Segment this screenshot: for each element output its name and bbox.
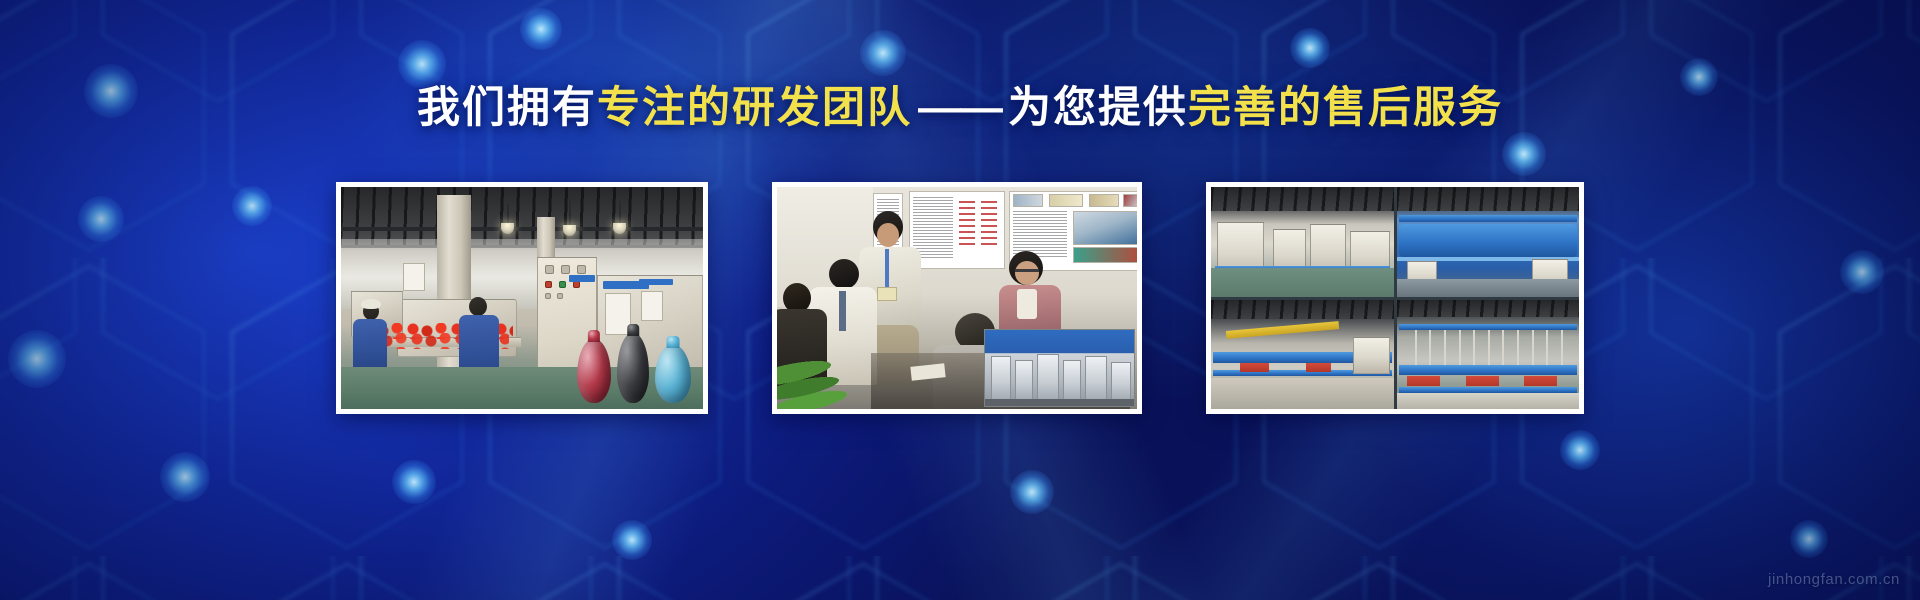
machine-inset-photo bbox=[984, 329, 1135, 407]
page-title: 我们拥有专注的研发团队——为您提供完善的售后服务 bbox=[0, 84, 1920, 132]
production-line-photo bbox=[341, 187, 703, 409]
workshop-collage-photo bbox=[1211, 187, 1579, 409]
photo-frame-team-meeting bbox=[772, 182, 1142, 414]
headline-segment-3: 为您提供 bbox=[1008, 84, 1188, 132]
team-meeting-photo bbox=[777, 187, 1137, 409]
product-vase bbox=[577, 339, 611, 403]
promo-banner: 我们拥有专注的研发团队——为您提供完善的售后服务 bbox=[0, 0, 1920, 600]
product-vase bbox=[655, 345, 691, 403]
headline-segment-1: 我们拥有 bbox=[417, 84, 597, 132]
headline-dash: —— bbox=[912, 84, 1008, 132]
headline-segment-4-highlight: 完善的售后服务 bbox=[1188, 84, 1503, 132]
product-vase bbox=[617, 333, 649, 403]
collage-quadrant-oven bbox=[1211, 187, 1394, 297]
site-watermark: jinhongfan.com.cn bbox=[1768, 571, 1900, 588]
collage-quadrant-blue-duct bbox=[1397, 187, 1580, 297]
headline-segment-2-highlight: 专注的研发团队 bbox=[597, 84, 912, 132]
photo-frame-production-line bbox=[336, 182, 708, 414]
collage-quadrant-conveyor bbox=[1211, 300, 1394, 410]
photo-row bbox=[0, 182, 1920, 414]
photo-frame-workshop-collage bbox=[1206, 182, 1584, 414]
collage-quadrant-hanger-line bbox=[1397, 300, 1580, 410]
